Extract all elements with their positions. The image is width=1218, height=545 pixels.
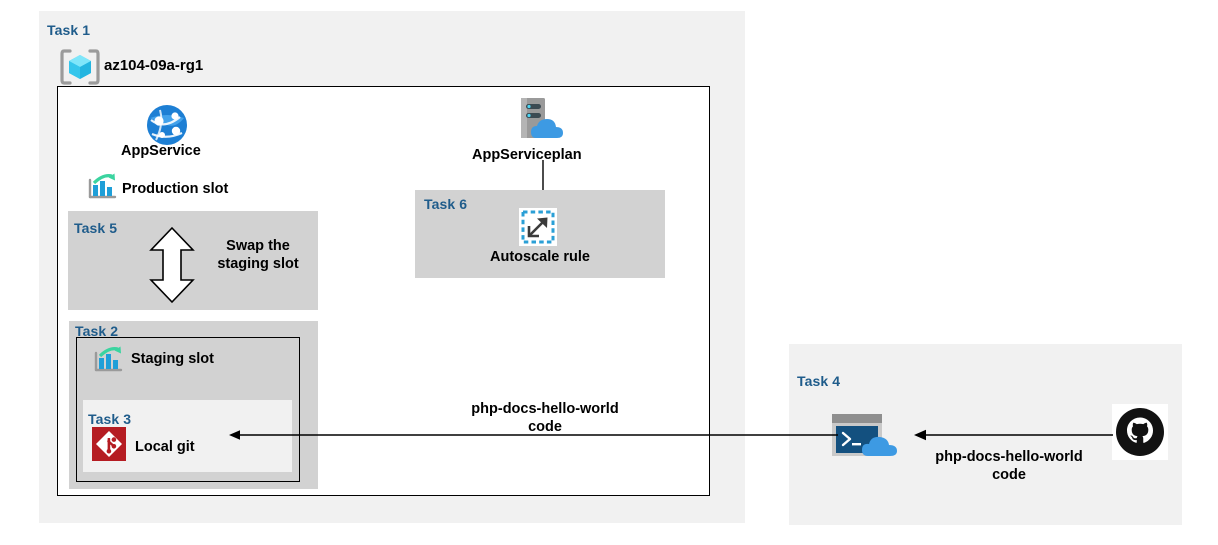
task6-label: Task 6 bbox=[424, 196, 467, 212]
staging-slot-label: Staging slot bbox=[131, 350, 214, 368]
code-label-mid-line1: php-docs-hello-world bbox=[471, 401, 618, 417]
app-service-globe-icon bbox=[146, 104, 188, 146]
swap-label-line1: Swap the bbox=[226, 238, 290, 254]
diagram-canvas: Task 1 az104-09a-rg1 AppService bbox=[0, 0, 1218, 545]
git-logo-icon bbox=[92, 427, 126, 461]
code-label-right-line2: code bbox=[992, 467, 1026, 483]
cloud-shell-terminal-icon bbox=[832, 414, 902, 458]
code-label-right-line1: php-docs-hello-world bbox=[935, 449, 1082, 465]
code-transfer-label-right: php-docs-hello-worldcode bbox=[916, 448, 1102, 484]
swap-connector-label: Swap thestaging slot bbox=[203, 237, 313, 273]
task5-label: Task 5 bbox=[74, 220, 117, 236]
production-slot-label: Production slot bbox=[122, 180, 228, 198]
task3-label: Task 3 bbox=[88, 411, 131, 427]
local-git-label: Local git bbox=[135, 438, 195, 456]
autoscale-rule-icon bbox=[519, 208, 557, 246]
task4-label: Task 4 bbox=[797, 373, 840, 389]
autoscale-rule-label: Autoscale rule bbox=[490, 248, 590, 266]
deployment-slot-chart-icon bbox=[88, 173, 118, 201]
deployment-slot-chart-icon bbox=[94, 346, 124, 374]
app-service-plan-server-cloud-icon bbox=[511, 96, 569, 146]
github-octocat-icon bbox=[1112, 404, 1168, 460]
code-label-mid-line2: code bbox=[528, 419, 562, 435]
code-transfer-label-center: php-docs-hello-worldcode bbox=[452, 400, 638, 436]
swap-label-line2: staging slot bbox=[217, 256, 298, 272]
app-service-plan-label: AppServiceplan bbox=[472, 146, 582, 164]
resource-group-cube-icon bbox=[60, 48, 100, 86]
left-arrow-icon bbox=[913, 425, 1113, 445]
task2-label: Task 2 bbox=[75, 323, 118, 339]
double-headed-vertical-arrow-icon bbox=[148, 226, 196, 304]
task1-label: Task 1 bbox=[47, 22, 90, 38]
app-service-label: AppService bbox=[121, 142, 201, 160]
resource-group-name: az104-09a-rg1 bbox=[104, 57, 203, 76]
